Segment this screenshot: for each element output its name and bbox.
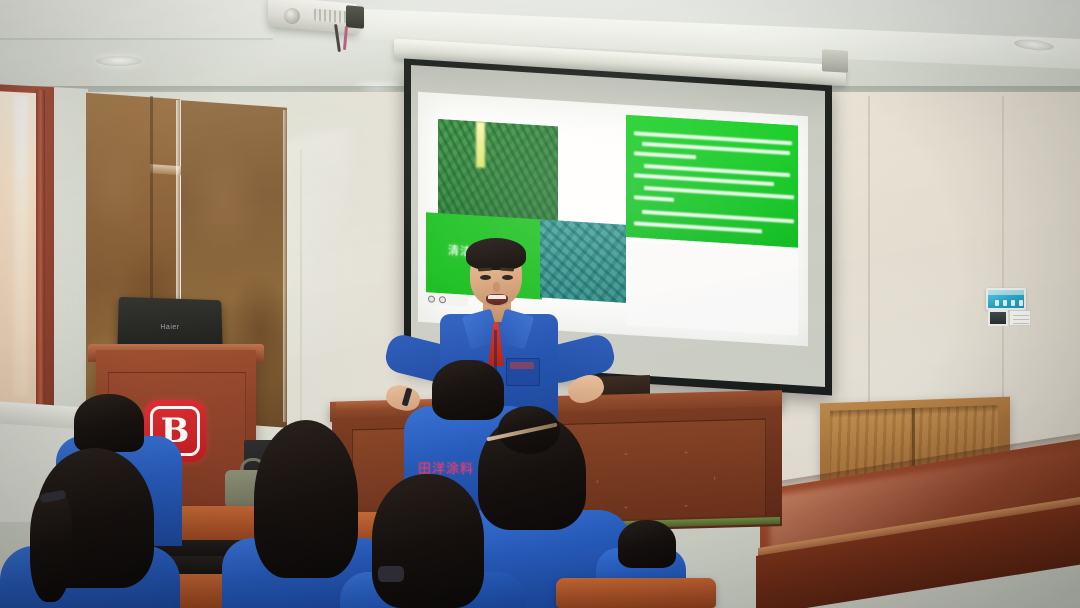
sign-icon: [995, 300, 999, 306]
presenter-hair: [466, 238, 526, 270]
attendee-hair: [254, 420, 358, 578]
monitor-brand-label: Haier: [148, 324, 192, 334]
sign-icon: [1019, 300, 1023, 306]
ceiling-downlight-icon: [96, 56, 142, 66]
sign-header-bar: [988, 290, 1024, 295]
auditorium-chair[interactable]: [556, 578, 716, 608]
attendee-hair: [372, 474, 484, 608]
attendee-hair: [74, 394, 144, 452]
column-edge: [283, 110, 287, 422]
presenter-badge: [510, 362, 534, 369]
conference-room-photo: 清洁生产措施 Haier B: [0, 0, 1080, 608]
wall-display-panel[interactable]: [988, 310, 1008, 326]
attendee-hair: [618, 520, 676, 568]
presenter-eye: [502, 275, 513, 280]
wall-notice-card: [1009, 310, 1031, 326]
window-mullion: [36, 90, 45, 408]
presenter-nose: [493, 282, 500, 292]
sign-icon: [1003, 300, 1007, 306]
attendee-hair: [432, 360, 504, 420]
projector-connector-box: [346, 5, 364, 29]
projector-lens-icon: [284, 8, 300, 24]
sign-icon: [1011, 300, 1015, 306]
presenter-eye: [480, 275, 491, 280]
control-panel-sign[interactable]: [986, 288, 1026, 310]
attendee-ponytail: [30, 492, 72, 602]
ceiling-recess-left: [0, 0, 287, 40]
presenter-teeth: [488, 295, 506, 299]
slide-text-block: [626, 115, 798, 248]
hair-tie: [378, 566, 404, 582]
slide-photo-highlight: [476, 121, 485, 168]
screen-roller-end-cap: [822, 49, 848, 73]
wall-pier: [54, 87, 88, 429]
slide-blank-area: [626, 241, 798, 336]
window-glare: [14, 96, 28, 397]
